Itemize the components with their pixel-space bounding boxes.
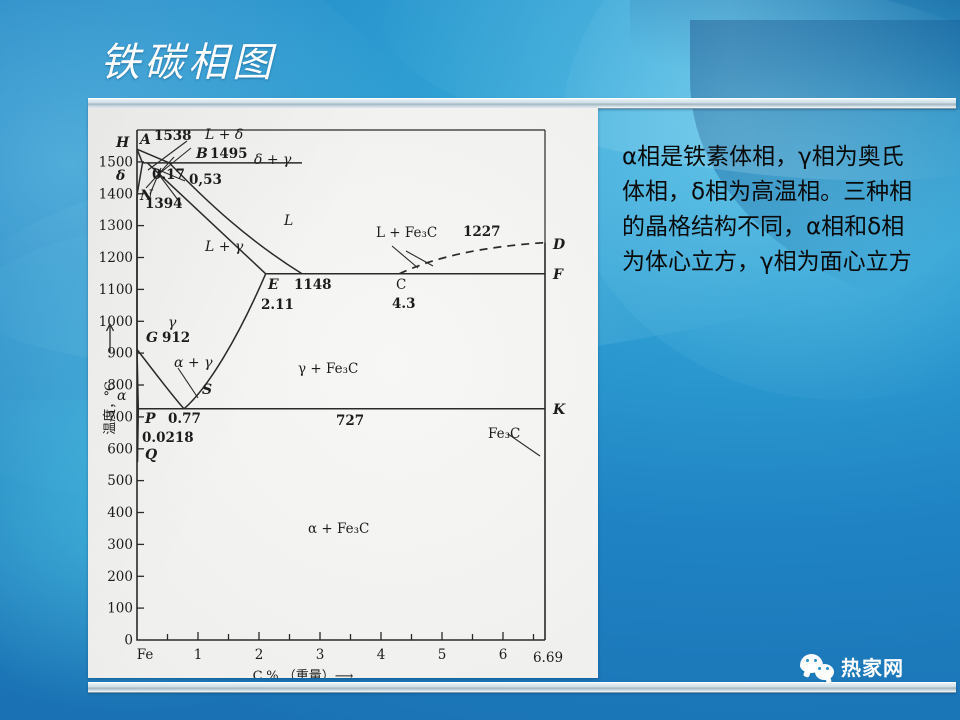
svg-text:4: 4 bbox=[377, 647, 386, 663]
wechat-icon bbox=[800, 654, 834, 680]
point-label-B: B bbox=[195, 146, 208, 162]
region-L-delta: L + δ bbox=[204, 127, 243, 143]
region-L-gamma: L + γ bbox=[204, 239, 244, 255]
svg-text:3: 3 bbox=[316, 647, 325, 663]
region-gamma-Fe3C: γ + Fe₃C bbox=[298, 361, 358, 377]
point-label-S: S bbox=[202, 382, 212, 398]
value-0-17: 0.17 bbox=[152, 167, 185, 183]
svg-text:1100: 1100 bbox=[99, 282, 133, 298]
svg-text:1000: 1000 bbox=[99, 314, 133, 330]
region-delta: δ bbox=[115, 168, 125, 184]
point-label-D: D bbox=[552, 237, 566, 253]
svg-text:1200: 1200 bbox=[99, 250, 133, 266]
value-4-3: 4.3 bbox=[392, 296, 416, 312]
value-1227: 1227 bbox=[463, 224, 501, 240]
axes bbox=[137, 130, 545, 640]
page-title: 铁碳相图 bbox=[100, 30, 276, 88]
value-2-11: 2.11 bbox=[261, 297, 294, 313]
region-alpha: α bbox=[117, 388, 127, 404]
value-1394: 1394 bbox=[145, 196, 183, 212]
x-axis-title: C,% （重量）⟶ bbox=[253, 668, 354, 678]
svg-text:400: 400 bbox=[107, 505, 133, 521]
point-label-K: K bbox=[552, 402, 566, 418]
y-axis-title: 温度，℃ bbox=[102, 381, 118, 435]
point-label-H: H bbox=[115, 135, 130, 151]
point-label-G: G bbox=[146, 330, 158, 346]
svg-text:100: 100 bbox=[107, 601, 133, 617]
region-delta-gamma: δ + γ bbox=[254, 152, 292, 168]
svg-text:5: 5 bbox=[438, 647, 447, 663]
svg-text:500: 500 bbox=[107, 473, 133, 489]
body-text: α相是铁素体相，γ相为奥氏体相，δ相为高温相。三种相的晶格结构不同，α相和δ相为… bbox=[622, 140, 922, 280]
slide: 铁碳相图 bbox=[0, 0, 960, 720]
divider-bottom bbox=[88, 682, 956, 693]
value-0-77: 0.77 bbox=[168, 411, 201, 427]
phase-diagram-svg: 1500 1400 1300 1200 1100 1000 900 800 70… bbox=[88, 108, 598, 678]
point-label-P: P bbox=[144, 411, 156, 427]
svg-text:0: 0 bbox=[124, 633, 133, 649]
region-gamma: γ bbox=[168, 315, 177, 331]
svg-text:6.69: 6.69 bbox=[533, 650, 563, 666]
svg-text:900: 900 bbox=[107, 346, 133, 362]
value-1148: 1148 bbox=[294, 277, 332, 293]
point-label-C: C bbox=[396, 277, 406, 293]
region-alpha-Fe3C: α + Fe₃C bbox=[308, 521, 369, 537]
chart-annotations: H A 1538 L + δ B 1495 δ + γ δ N 0.17 0,5… bbox=[115, 127, 566, 537]
chart-panel: 1500 1400 1300 1200 1100 1000 900 800 70… bbox=[88, 108, 598, 678]
point-label-F: F bbox=[552, 267, 564, 283]
svg-text:1300: 1300 bbox=[99, 218, 133, 234]
x-axis-ticks bbox=[168, 632, 534, 640]
value-1538: 1538 bbox=[154, 128, 192, 144]
x-axis-tick-labels: Fe 1 2 3 4 5 6 6.69 bbox=[137, 647, 563, 666]
svg-text:2: 2 bbox=[255, 647, 264, 663]
value-727: 727 bbox=[336, 413, 364, 429]
region-alpha-gamma: α + γ bbox=[174, 355, 213, 371]
label-Fe3C: Fe₃C bbox=[488, 426, 520, 442]
point-label-A: A bbox=[138, 132, 151, 148]
svg-text:1400: 1400 bbox=[99, 186, 133, 202]
svg-text:300: 300 bbox=[107, 537, 133, 553]
svg-text:Fe: Fe bbox=[137, 647, 154, 663]
region-L-Fe3C: L + Fe₃C bbox=[376, 225, 437, 241]
svg-text:1: 1 bbox=[194, 647, 203, 663]
watermark-label: 热家网 bbox=[841, 652, 904, 681]
point-label-E: E bbox=[267, 277, 279, 293]
svg-text:6: 6 bbox=[499, 647, 508, 663]
point-label-Q: Q bbox=[145, 447, 157, 463]
svg-text:200: 200 bbox=[107, 569, 133, 585]
region-L: L bbox=[283, 213, 293, 229]
value-912: 912 bbox=[162, 330, 190, 346]
value-0-0218: 0.0218 bbox=[142, 430, 194, 446]
value-1495: 1495 bbox=[210, 146, 248, 162]
watermark: 热家网 bbox=[800, 652, 904, 681]
svg-text:600: 600 bbox=[107, 441, 133, 457]
value-0-53: 0,53 bbox=[189, 172, 222, 188]
axis-labels: 温度，℃ C,% （重量）⟶ bbox=[102, 324, 354, 678]
phase-boundaries bbox=[137, 149, 545, 640]
